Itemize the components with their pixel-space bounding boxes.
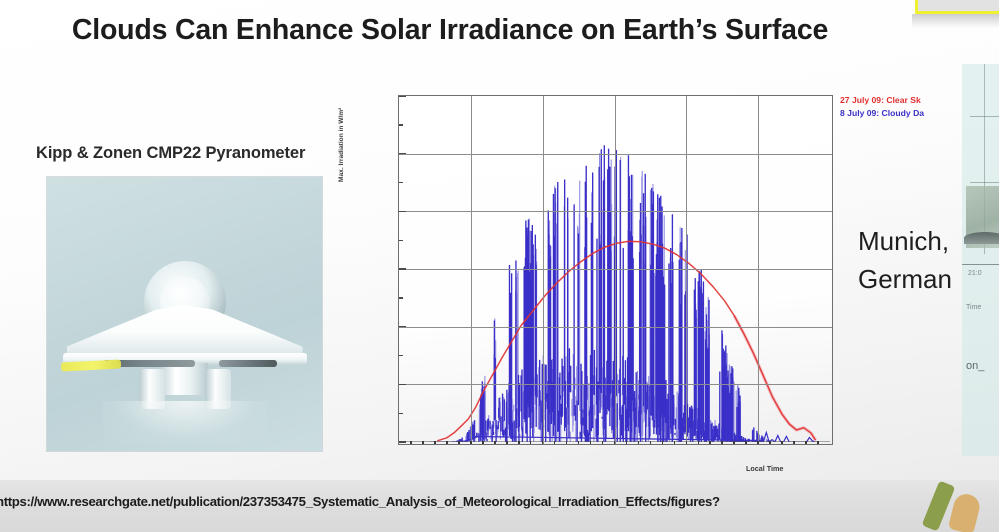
chart-x-tick-minor: [674, 441, 676, 444]
source-url-band: https://www.researchgate.net/publication…: [0, 480, 999, 532]
slide-screen: Clouds Can Enhance Solar Irradiance on E…: [0, 0, 999, 532]
chart-x-tick-minor: [458, 441, 460, 444]
chart-y-tick: [399, 153, 406, 154]
chart-y-tick: [399, 211, 406, 212]
cursor-tan-part: [948, 491, 982, 532]
chart-x-tick-minor: [733, 441, 735, 444]
chart-x-tick-minor: [650, 441, 652, 444]
location-line-1: Munich,: [858, 222, 952, 260]
chart-x-tick-minor: [793, 441, 795, 444]
selection-highlight-box[interactable]: [915, 0, 999, 14]
chart-x-tick-minor: [817, 441, 819, 444]
chart-x-tick-minor: [410, 441, 412, 444]
chart-x-tick-minor: [470, 441, 472, 444]
chart-y-tick-minor: [399, 182, 403, 183]
chart-x-tick-minor: [757, 441, 759, 444]
chart-y-tick-minor: [399, 124, 403, 125]
chart-gridline-vertical: [758, 96, 759, 444]
clear-sky-tail-halo: [734, 316, 815, 441]
chart-y-tick-minor: [399, 297, 403, 298]
chart-x-tick-minor: [530, 441, 532, 444]
chart-gridline-horizontal: [399, 327, 832, 328]
chart-x-tick-minor: [805, 441, 807, 444]
chart-x-tick-minor: [566, 441, 568, 444]
location-label: Munich, German: [858, 222, 952, 298]
chart-y-tick: [399, 95, 406, 96]
cloudy-day-spikes-dark: [451, 145, 770, 442]
ghost-dome: [964, 232, 999, 244]
chart-y-tick-minor: [399, 240, 403, 241]
chart-gridline-horizontal: [399, 154, 832, 155]
location-line-2: German: [858, 260, 952, 298]
chart-y-tick: [399, 326, 406, 327]
chart-x-tick-minor: [602, 441, 604, 444]
chart-x-tick-minor: [446, 441, 448, 444]
chart-x-tick-minor: [542, 441, 544, 444]
chart-y-tick: [399, 441, 406, 442]
chart-gridline-vertical: [543, 96, 544, 444]
chart-gridline-vertical: [686, 96, 687, 444]
chart-x-tick-minor: [638, 441, 640, 444]
chart-x-tick-minor: [518, 441, 520, 444]
ghost-axis-line: [962, 264, 999, 265]
chart-x-tick-minor: [709, 441, 711, 444]
chart-x-tick-minor: [769, 441, 771, 444]
source-url-text[interactable]: https://www.researchgate.net/publication…: [0, 494, 720, 509]
ghost-url-fragment: on_: [966, 360, 984, 372]
chart-y-axis-label: Max. Irradiation in W/m²: [338, 32, 345, 182]
ghost-axis-label: Time: [966, 304, 981, 311]
pyranometer-stem: [162, 363, 208, 395]
chart-y-tick-minor: [399, 355, 403, 356]
chart-x-tick-minor: [781, 441, 783, 444]
chart-y-tick: [399, 268, 406, 269]
ghost-tick-label: 21:0: [968, 270, 982, 277]
chart-gridline-horizontal: [399, 384, 832, 385]
irradiance-chart: Max. Irradiation in W/m² 025050075010001…: [348, 86, 858, 474]
selection-box-shadow: [912, 14, 999, 28]
chart-x-tick-minor: [506, 441, 508, 444]
chart-y-tick-minor: [399, 413, 403, 414]
pyranometer-cable-right: [219, 360, 277, 367]
chart-gridline-vertical: [471, 96, 472, 444]
cursor-pointer-icon: [930, 482, 984, 532]
chart-x-tick-minor: [686, 441, 688, 444]
chart-x-tick-minor: [614, 441, 616, 444]
chart-x-tick-minor: [578, 441, 580, 444]
chart-gridline-horizontal: [399, 211, 832, 212]
pyranometer-photo: [47, 177, 322, 451]
chart-x-tick-minor: [626, 441, 628, 444]
chart-x-tick-minor: [590, 441, 592, 444]
chart-x-tick-minor: [662, 441, 664, 444]
chart-x-tick-minor: [554, 441, 556, 444]
chart-gridline-horizontal: [399, 269, 832, 270]
chart-x-tick-minor: [698, 441, 700, 444]
pyranometer-cable-yellow: [61, 359, 121, 371]
chart-x-tick-minor: [422, 441, 424, 444]
chart-x-tick-minor: [721, 441, 723, 444]
chart-x-tick-minor: [745, 441, 747, 444]
chart-x-tick-minor: [494, 441, 496, 444]
overlay-ghost-panel[interactable]: 21:0 Time on_: [962, 64, 999, 456]
chart-y-tick: [399, 384, 406, 385]
pyranometer-reflection: [103, 401, 267, 445]
chart-x-axis-label: Local Time: [746, 464, 783, 473]
chart-x-tick-minor: [434, 441, 436, 444]
pyranometer-caption: Kipp & Zonen CMP22 Pyranometer: [36, 144, 305, 163]
chart-plot-area: 02505007501000125015003:006:009:0012:001…: [398, 95, 833, 445]
chart-gridline-vertical: [615, 96, 616, 444]
page-title: Clouds Can Enhance Solar Irradiance on E…: [0, 14, 900, 47]
chart-x-tick-minor: [482, 441, 484, 444]
